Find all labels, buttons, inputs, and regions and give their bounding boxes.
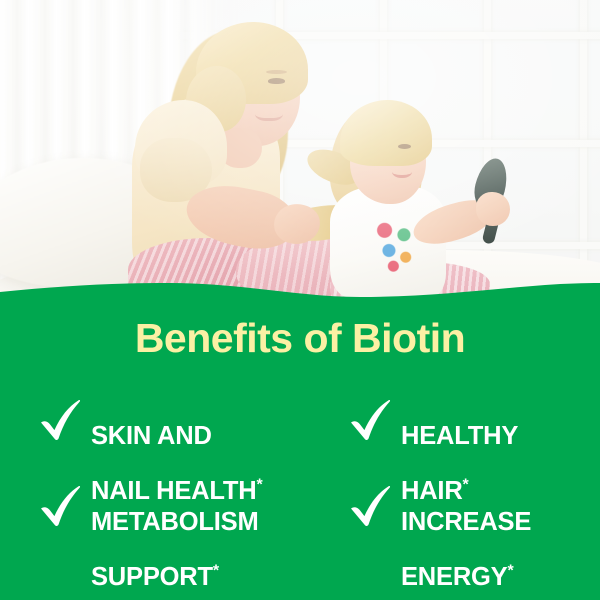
mother-smile [255,104,283,121]
mother-eye [268,78,285,84]
benefit-footnote-asterisk: * [508,562,514,579]
benefit-line-2: SUPPORT [91,563,213,591]
check-icon [38,396,82,442]
child-shirt-print [374,218,418,274]
hero-photo [0,0,600,310]
benefit-label: METABOLISM SUPPORT* [91,478,259,591]
benefit-item-healthy-hair: HEALTHY HAIR* [348,392,578,478]
mother-eyebrow [266,70,287,74]
benefit-item-increase-energy: INCREASE ENERGY* [348,478,578,564]
child-smile [392,164,412,178]
child-hand [476,192,510,226]
panel-content: Benefits of Biotin SKIN AND NAIL HEALTH* [0,270,600,600]
benefit-footnote-asterisk: * [213,562,219,579]
benefit-line-1: SKIN AND [91,422,212,450]
benefit-line-1: INCREASE [401,508,531,536]
child-eye [398,144,411,149]
benefit-item-metabolism-support: METABOLISM SUPPORT* [38,478,348,564]
benefit-item-skin-and-nail-health: SKIN AND NAIL HEALTH* [38,392,348,478]
benefit-line-1: METABOLISM [91,508,259,536]
product-benefits-graphic: Benefits of Biotin SKIN AND NAIL HEALTH* [0,0,600,600]
check-icon [348,396,392,442]
check-icon [348,482,392,528]
benefit-label: INCREASE ENERGY* [401,478,531,591]
benefits-list: SKIN AND NAIL HEALTH* HEALTHY HAIR* [38,392,578,564]
page-title: Benefits of Biotin [0,318,600,359]
check-icon [38,482,82,528]
benefit-line-2: ENERGY [401,563,508,591]
benefit-line-1: HEALTHY [401,422,518,450]
